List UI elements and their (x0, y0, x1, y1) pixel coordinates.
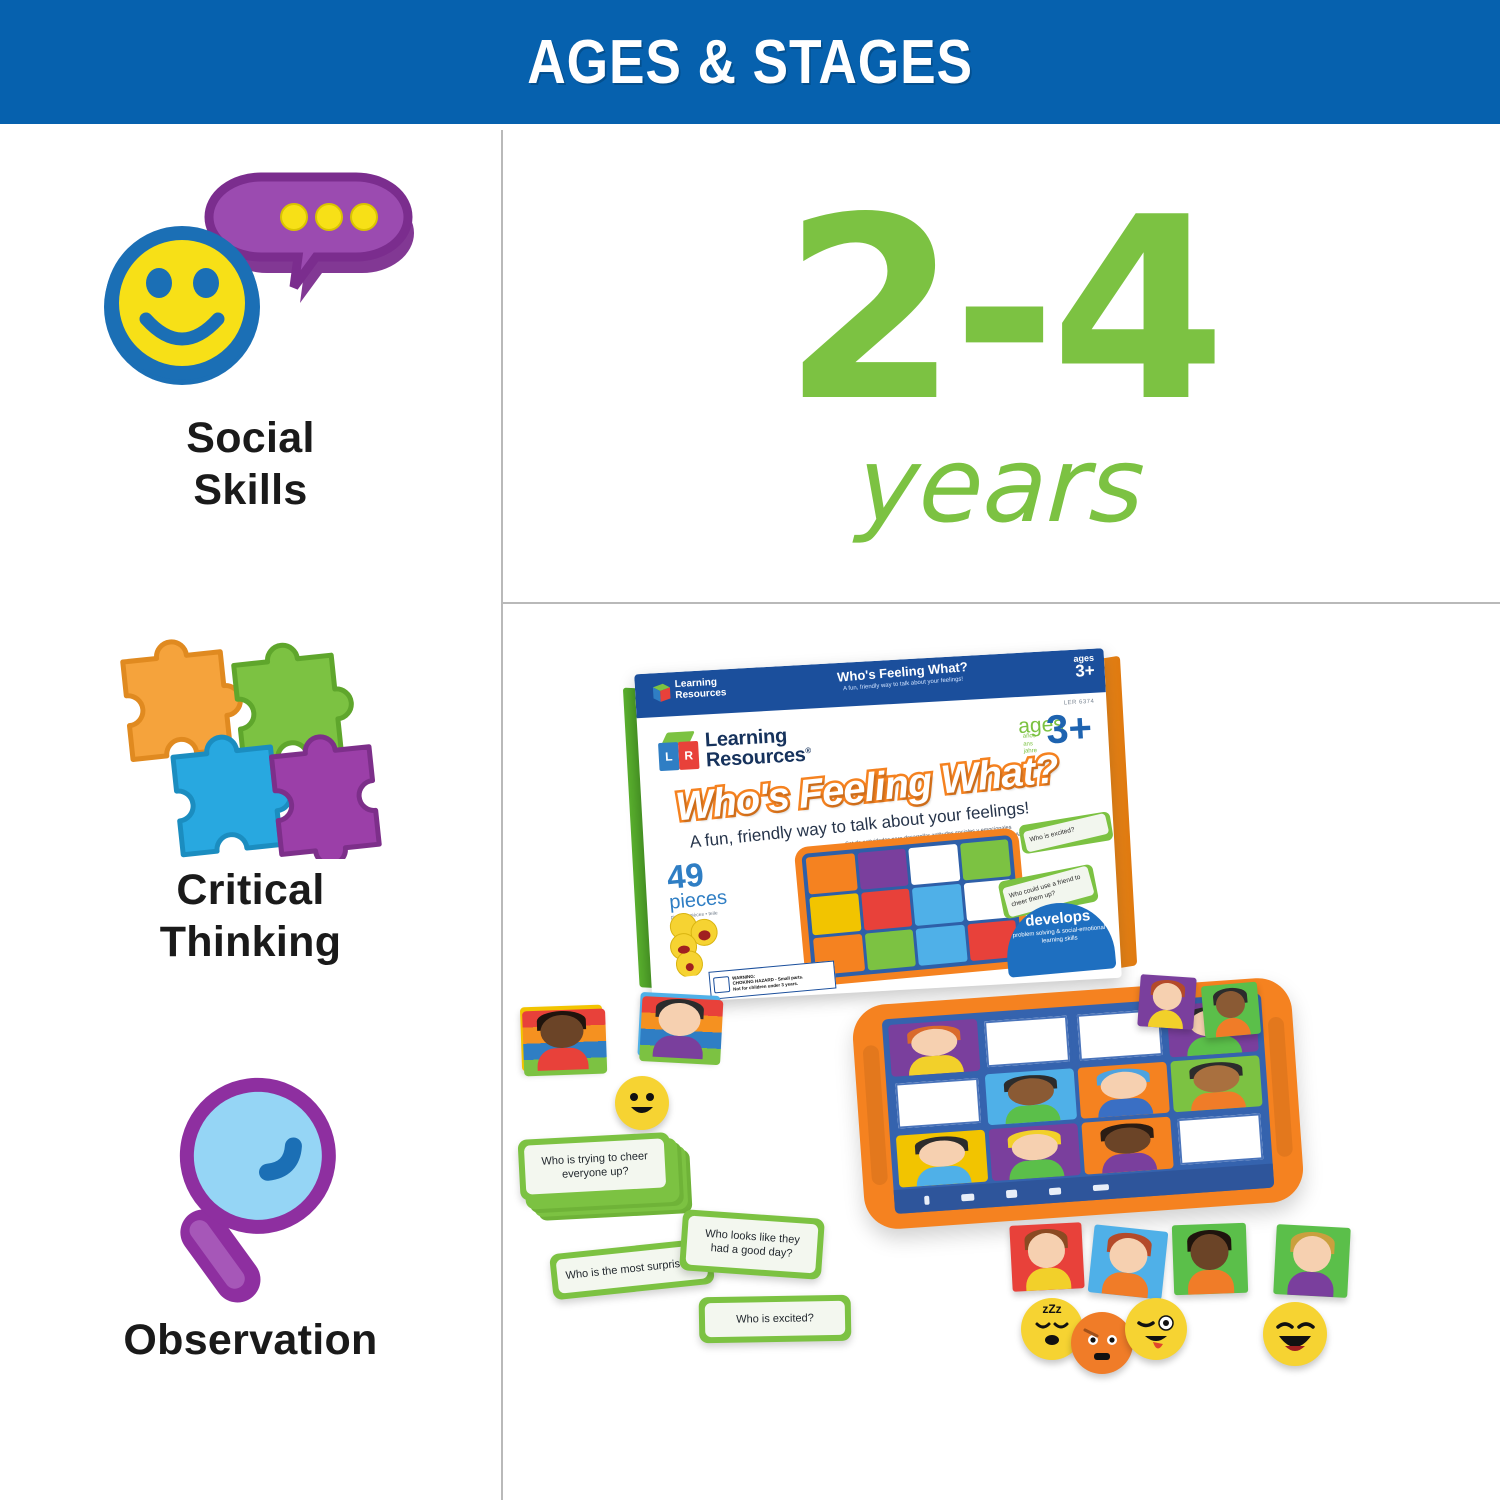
character-card-stack[interactable] (520, 1005, 604, 1072)
skill-label-line2: Skills (0, 464, 501, 516)
age-range-unit: years (856, 433, 1148, 537)
box-grid-cell (857, 849, 909, 891)
character-card[interactable] (1088, 1224, 1169, 1299)
board-cell-empty[interactable] (981, 1012, 1073, 1070)
brand-trademark: ® (805, 746, 811, 755)
skill-label-line2: Thinking (0, 916, 501, 968)
brand-cube-icon (649, 682, 672, 705)
skill-label-social-skills: Social Skills (0, 412, 501, 517)
horizontal-divider (501, 602, 1500, 604)
board-cell[interactable] (1077, 1061, 1169, 1119)
page-title: AGES & STAGES (527, 27, 973, 98)
box-band-age-number: 3+ (1074, 663, 1095, 679)
brand-name: LearningResources® (704, 725, 811, 772)
smiley-speech-bubble-icon (0, 152, 501, 412)
box-grid-cell-empty (908, 844, 960, 886)
box-grid-cell (809, 893, 861, 935)
character-card[interactable] (1172, 1223, 1248, 1296)
skill-item-observation: Observation (0, 1054, 501, 1366)
question-card-text: Who is excited? (705, 1301, 846, 1338)
chat-icon[interactable] (1049, 1187, 1061, 1195)
question-card[interactable]: Who looks like they had a good day? (679, 1209, 825, 1279)
skill-label-line1: Observation (0, 1314, 501, 1366)
ages-and-stages-infographic: AGES & STAGES (0, 0, 1500, 1500)
mic-icon[interactable] (924, 1195, 930, 1204)
board-cell[interactable] (989, 1123, 1081, 1181)
product-box: Learning Resources Who's Feeling What? A… (634, 648, 1122, 1004)
box-emoji-cluster-icon (662, 908, 729, 978)
question-card-stack[interactable]: Who is trying to cheer everyone up? (518, 1132, 673, 1200)
cube-right-face: R (678, 741, 700, 770)
emoji-token-silly[interactable] (1125, 1298, 1187, 1360)
box-question-card-text: Who is excited? (1023, 813, 1110, 852)
box-ages-number: 3+ (1045, 711, 1092, 747)
box-grid-cell (861, 889, 913, 931)
character-card[interactable] (1201, 982, 1261, 1039)
board-cell[interactable] (896, 1130, 988, 1188)
question-card[interactable]: Who is excited? (699, 1295, 852, 1344)
box-grid-cell (806, 853, 858, 895)
warning-text: WARNING: CHOKING HAZARD - Small parts.No… (732, 969, 804, 992)
svg-text:zZz: zZz (1042, 1302, 1061, 1316)
emoji-laughing-icon (1263, 1302, 1327, 1366)
box-grid-cell (912, 884, 964, 926)
skill-item-social-skills: Social Skills (0, 152, 501, 517)
board-cell[interactable] (1170, 1055, 1262, 1113)
board-cell[interactable] (888, 1019, 980, 1077)
skill-label-line1: Social (0, 412, 501, 464)
puzzle-pieces-icon (0, 604, 501, 864)
question-card-text: Who looks like they had a good day? (685, 1216, 818, 1274)
skill-label-observation: Observation (0, 1314, 501, 1366)
emoji-token-laughing[interactable] (1263, 1302, 1327, 1366)
skill-item-critical-thinking: Critical Thinking (0, 604, 501, 969)
character-card[interactable] (1137, 974, 1196, 1030)
box-grid-cell (916, 924, 968, 966)
emoji-smile-icon (615, 1076, 669, 1130)
box-band-brand: Learning Resources (649, 677, 738, 710)
board-cell-empty[interactable] (1174, 1110, 1266, 1168)
emoji-token-angry[interactable] (1071, 1312, 1133, 1374)
age-range-panel: 2-4 years (503, 130, 1500, 602)
warning-title: WARNING: (732, 973, 756, 980)
emoji-silly-icon (1125, 1298, 1187, 1360)
box-grid-cell (864, 929, 916, 971)
box-board-grid (801, 835, 1023, 980)
box-top-band: Learning Resources Who's Feeling What? A… (634, 648, 1106, 718)
character-card-stack[interactable] (637, 992, 720, 1060)
camera-icon[interactable] (961, 1193, 974, 1201)
age-range-number: 2-4 (783, 195, 1220, 427)
box-band-age: ages 3+ (1073, 653, 1095, 679)
character-card[interactable] (1273, 1224, 1351, 1298)
board-cell[interactable] (1081, 1117, 1173, 1175)
header-banner: AGES & STAGES (0, 0, 1500, 124)
skill-label-line1: Critical (0, 864, 501, 916)
no-children-icon (713, 976, 730, 993)
question-card-text: Who is trying to cheer everyone up? (524, 1138, 666, 1194)
board-cell-empty[interactable] (892, 1074, 984, 1132)
emoji-token-stack[interactable] (615, 1076, 669, 1130)
box-band-brand-text: Learning Resources (675, 677, 738, 701)
box-front-panel: Learning Resources Who's Feeling What? A… (634, 648, 1122, 1004)
skills-column: Social Skills (0, 124, 501, 1500)
product-photo: Learning Resources Who's Feeling What? A… (503, 606, 1500, 1500)
box-question-cards: Who is excited? Who could use a friend t… (999, 812, 1122, 914)
board-cell[interactable] (985, 1068, 1077, 1126)
brand-logo: L R LearningResources® (657, 725, 811, 774)
skill-label-critical-thinking: Critical Thinking (0, 864, 501, 969)
brand-cube-icon: L R (657, 731, 699, 773)
magnifying-glass-icon (0, 1054, 501, 1314)
people-icon[interactable] (1006, 1189, 1018, 1198)
bar-icon[interactable] (1093, 1184, 1109, 1191)
emoji-angry-icon (1071, 1312, 1133, 1374)
cube-left-face: L (658, 742, 680, 771)
character-card[interactable] (1009, 1222, 1084, 1292)
